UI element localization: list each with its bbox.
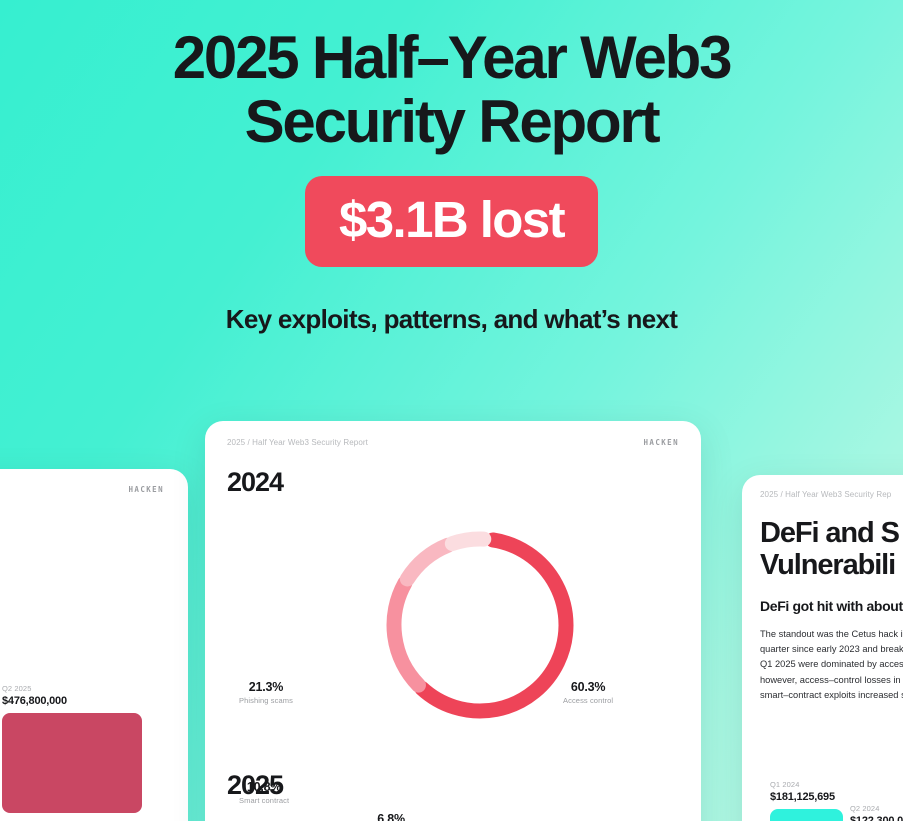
left-card-title: osses ring	[0, 516, 164, 589]
bar-value-q1-2024: $181,125,695	[770, 791, 843, 803]
right-card-body: The standout was the Cetus hack in quart…	[760, 627, 903, 702]
hero-section: 2025 Half–Year Web3 Security Report $3.1…	[0, 0, 903, 335]
hacken-logo-icon: HACKEN	[644, 438, 680, 447]
donut-name-smart-contract: Smart contract	[239, 796, 289, 805]
left-card-title-line-2: ring	[0, 552, 164, 588]
right-card-body-line-1: The standout was the Cetus hack in	[760, 627, 903, 642]
donut-pct-phishing-scams: 21.3%	[239, 680, 293, 694]
bar-label-q1-2024: Q1 2024	[770, 780, 843, 789]
bar-group-q2-2025: Q2 2025 $476,800,000	[2, 684, 142, 813]
right-bar-chart: Q1 2024 $181,125,695 Q2 2024 $122,300,00…	[760, 735, 903, 821]
right-card-body-line-5: smart–contract exploits increased s	[760, 688, 903, 703]
donut-label-access-control: 60.3% Access control	[563, 680, 613, 705]
donut-slice-phishing-scams	[394, 583, 418, 685]
left-card-lede-line-1: the first half	[0, 603, 164, 619]
bar-rect-q1-2024	[770, 809, 843, 821]
left-bar-chart: Q1 2025 $117,370,000 Q2 2025 $476,800,00…	[0, 653, 164, 813]
hacken-logo-icon: HACKEN	[129, 485, 165, 494]
breadcrumb: 2025 / Half Year Web3 Security Report	[227, 438, 368, 447]
page-title-line-2: Security Report	[40, 90, 863, 154]
section-heading-2024: 2024	[227, 467, 679, 498]
page-title-line-1: 2025 Half–Year Web3	[40, 26, 863, 90]
donut-pct-smart-contract: 10.8%	[239, 780, 289, 794]
card-quarterly-losses[interactable]: HACKEN osses ring the first half sses. Q…	[0, 469, 188, 821]
right-card-title-line-1: DeFi and S	[760, 517, 903, 549]
breadcrumb: 2025 / Half Year Web3 Security Rep	[760, 490, 891, 499]
donut-chart-2025-svg	[370, 807, 590, 821]
right-card-subtitle: DeFi got hit with about 3	[760, 598, 903, 614]
left-card-lede: the first half sses.	[0, 603, 164, 635]
donut-slice-rug-pulls	[452, 539, 483, 544]
right-card-title-line-2: Vulnerabili	[760, 549, 903, 581]
donut-pct-access-control: 60.3%	[563, 680, 613, 694]
donut-name-access-control: Access control	[563, 696, 613, 705]
card-2024-breakdown[interactable]: 2025 / Half Year Web3 Security Report HA…	[205, 421, 701, 821]
loss-badge-wrapper: $3.1B lost	[0, 176, 903, 267]
donut-chart-2025	[227, 807, 683, 821]
card-defi-vulnerabilities[interactable]: 2025 / Half Year Web3 Security Rep DeFi …	[742, 475, 903, 821]
right-card-body-line-4: however, access–control losses in D	[760, 673, 903, 688]
right-card-title: DeFi and S Vulnerabili	[760, 517, 903, 581]
bar-label-q2-2024: Q2 2024	[850, 804, 903, 813]
section-heading-2025: 2025	[227, 770, 679, 801]
center-card-header: 2025 / Half Year Web3 Security Report HA…	[227, 438, 679, 447]
bar-rect-q2-2025	[2, 713, 142, 813]
right-card-body-line-2: quarter since early 2023 and breaki	[760, 642, 903, 657]
bar-group-q1-2024: Q1 2024 $181,125,695	[770, 780, 843, 821]
donut-label-phishing-scams: 21.3% Phishing scams	[239, 680, 293, 705]
donut-chart-2024: 60.3% Access control 21.3% Phishing scam…	[227, 500, 683, 750]
left-card-lede-line-2: sses.	[0, 619, 164, 635]
bar-label-q2-2025: Q2 2025	[2, 684, 142, 693]
donut-slice-access-control	[422, 540, 566, 711]
page-subtitle: Key exploits, patterns, and what’s next	[0, 304, 903, 335]
donut-chart-svg	[370, 500, 590, 740]
left-card-title-line-1: osses	[0, 516, 164, 552]
donut-name-phishing-scams: Phishing scams	[239, 696, 293, 705]
total-loss-badge: $3.1B lost	[305, 176, 598, 267]
donut-slice-smart-contract	[407, 545, 447, 579]
right-card-body-line-3: Q1 2025 were dominated by access	[760, 657, 903, 672]
donut-label-smart-contract: 10.8% Smart contract	[239, 780, 289, 805]
right-card-header: 2025 / Half Year Web3 Security Rep	[760, 490, 903, 499]
left-card-header: HACKEN	[0, 485, 164, 494]
page-title: 2025 Half–Year Web3 Security Report	[0, 26, 903, 154]
bar-value-q2-2025: $476,800,000	[2, 695, 142, 707]
bar-value-q2-2024: $122,300,000	[850, 815, 903, 821]
bar-group-q2-2024: Q2 2024 $122,300,000	[850, 804, 903, 821]
